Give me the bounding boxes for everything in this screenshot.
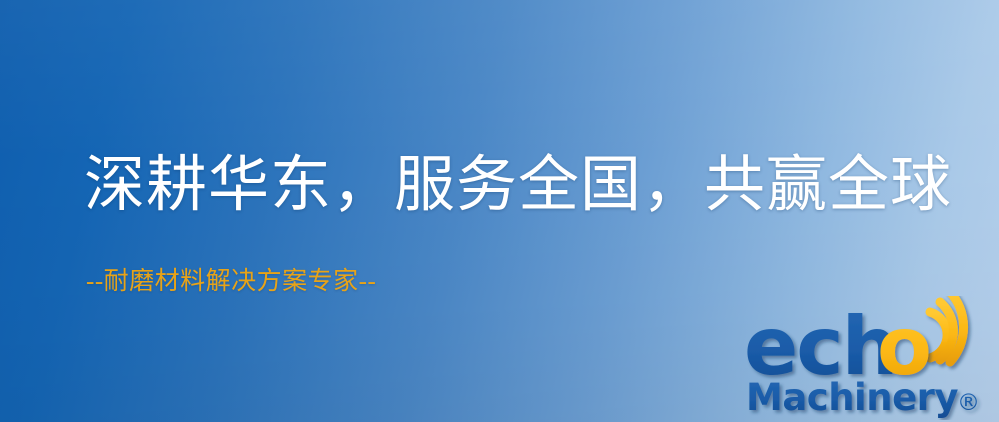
promo-banner: 深耕华东，服务全国，共赢全球 --耐磨材料解决方案专家-- [0,0,999,422]
signal-arcs-icon [930,296,964,362]
banner-headline: 深耕华东，服务全国，共赢全球 [84,146,952,226]
echo-machinery-logo: ech o Machinery ® [744,296,996,420]
logo-trademark-symbol: ® [957,390,980,416]
logo-wordmark-machinery: Machinery [746,376,958,419]
banner-subtitle: --耐磨材料解决方案专家-- [86,264,376,300]
